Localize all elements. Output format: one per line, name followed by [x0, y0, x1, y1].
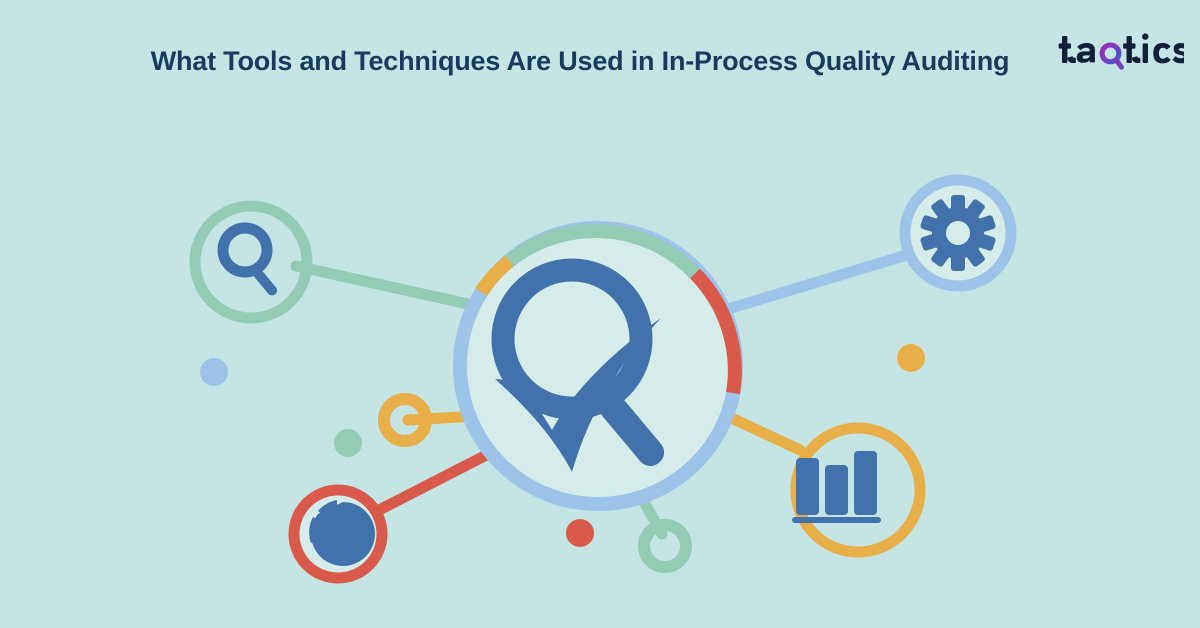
blue-dot	[200, 358, 228, 386]
yellow-dot	[897, 344, 925, 372]
illustration-canvas	[0, 96, 1200, 628]
page-title: What Tools and Techniques Are Used in In…	[0, 46, 1200, 77]
green-dot	[334, 429, 362, 457]
logo-wordmark-svg	[1058, 30, 1184, 74]
analytics-node[interactable]	[792, 428, 920, 552]
logo-letters-tics	[1123, 33, 1184, 63]
magnifier-icon	[223, 228, 279, 297]
hero-banner: What Tools and Techniques Are Used in In…	[0, 0, 1200, 628]
search-node-ring	[195, 206, 307, 318]
taqtics-logo[interactable]	[1058, 30, 1184, 74]
search-node[interactable]	[195, 206, 307, 318]
report-node[interactable]	[294, 490, 382, 578]
connector-line-search	[296, 266, 486, 308]
red-dot	[566, 519, 594, 547]
logo-letters-ta	[1059, 36, 1095, 63]
bar-chart-icon	[792, 451, 881, 523]
magnifier-check-hub[interactable]	[460, 228, 736, 504]
logo-q-magnifier	[1102, 45, 1125, 71]
network-illustration-svg	[0, 96, 1200, 628]
connector-line-settings	[725, 254, 910, 310]
settings-node[interactable]	[905, 180, 1011, 286]
